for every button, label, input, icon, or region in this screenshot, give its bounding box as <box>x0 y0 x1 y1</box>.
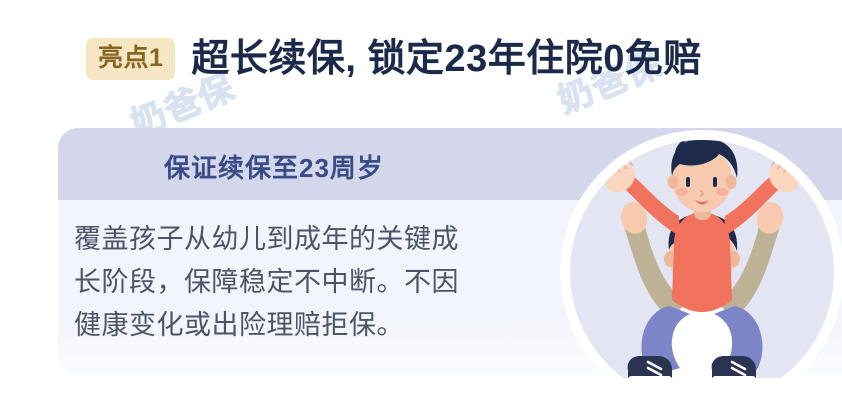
card-body-line: 健康变化或出险理赔拒保。 <box>74 304 529 347</box>
feature-card: 保证续保至23周岁 覆盖孩子从幼儿到成年的关键成 长阶段，保障稳定不中断。不因 … <box>58 128 842 378</box>
highlight-badge: 亮点1 <box>86 38 175 80</box>
title-row: 亮点1 超长续保, 锁定23年住院0免赔 <box>86 33 702 85</box>
card-body-line: 覆盖孩子从幼儿到成年的关键成 <box>74 218 529 261</box>
card-body-line: 长阶段，保障稳定不中断。不因 <box>74 261 529 304</box>
illustration-father-and-child <box>552 128 842 378</box>
page-root: 奶爸保 奶爸保 奶爸保 奶爸保 亮点1 超长续保, 锁定23年住院0免赔 保证续… <box>0 0 842 403</box>
card-body-text: 覆盖孩子从幼儿到成年的关键成 长阶段，保障稳定不中断。不因 健康变化或出险理赔拒… <box>74 218 529 347</box>
page-title: 超长续保, 锁定23年住院0免赔 <box>191 40 702 78</box>
card-header-title: 保证续保至23周岁 <box>164 148 384 185</box>
